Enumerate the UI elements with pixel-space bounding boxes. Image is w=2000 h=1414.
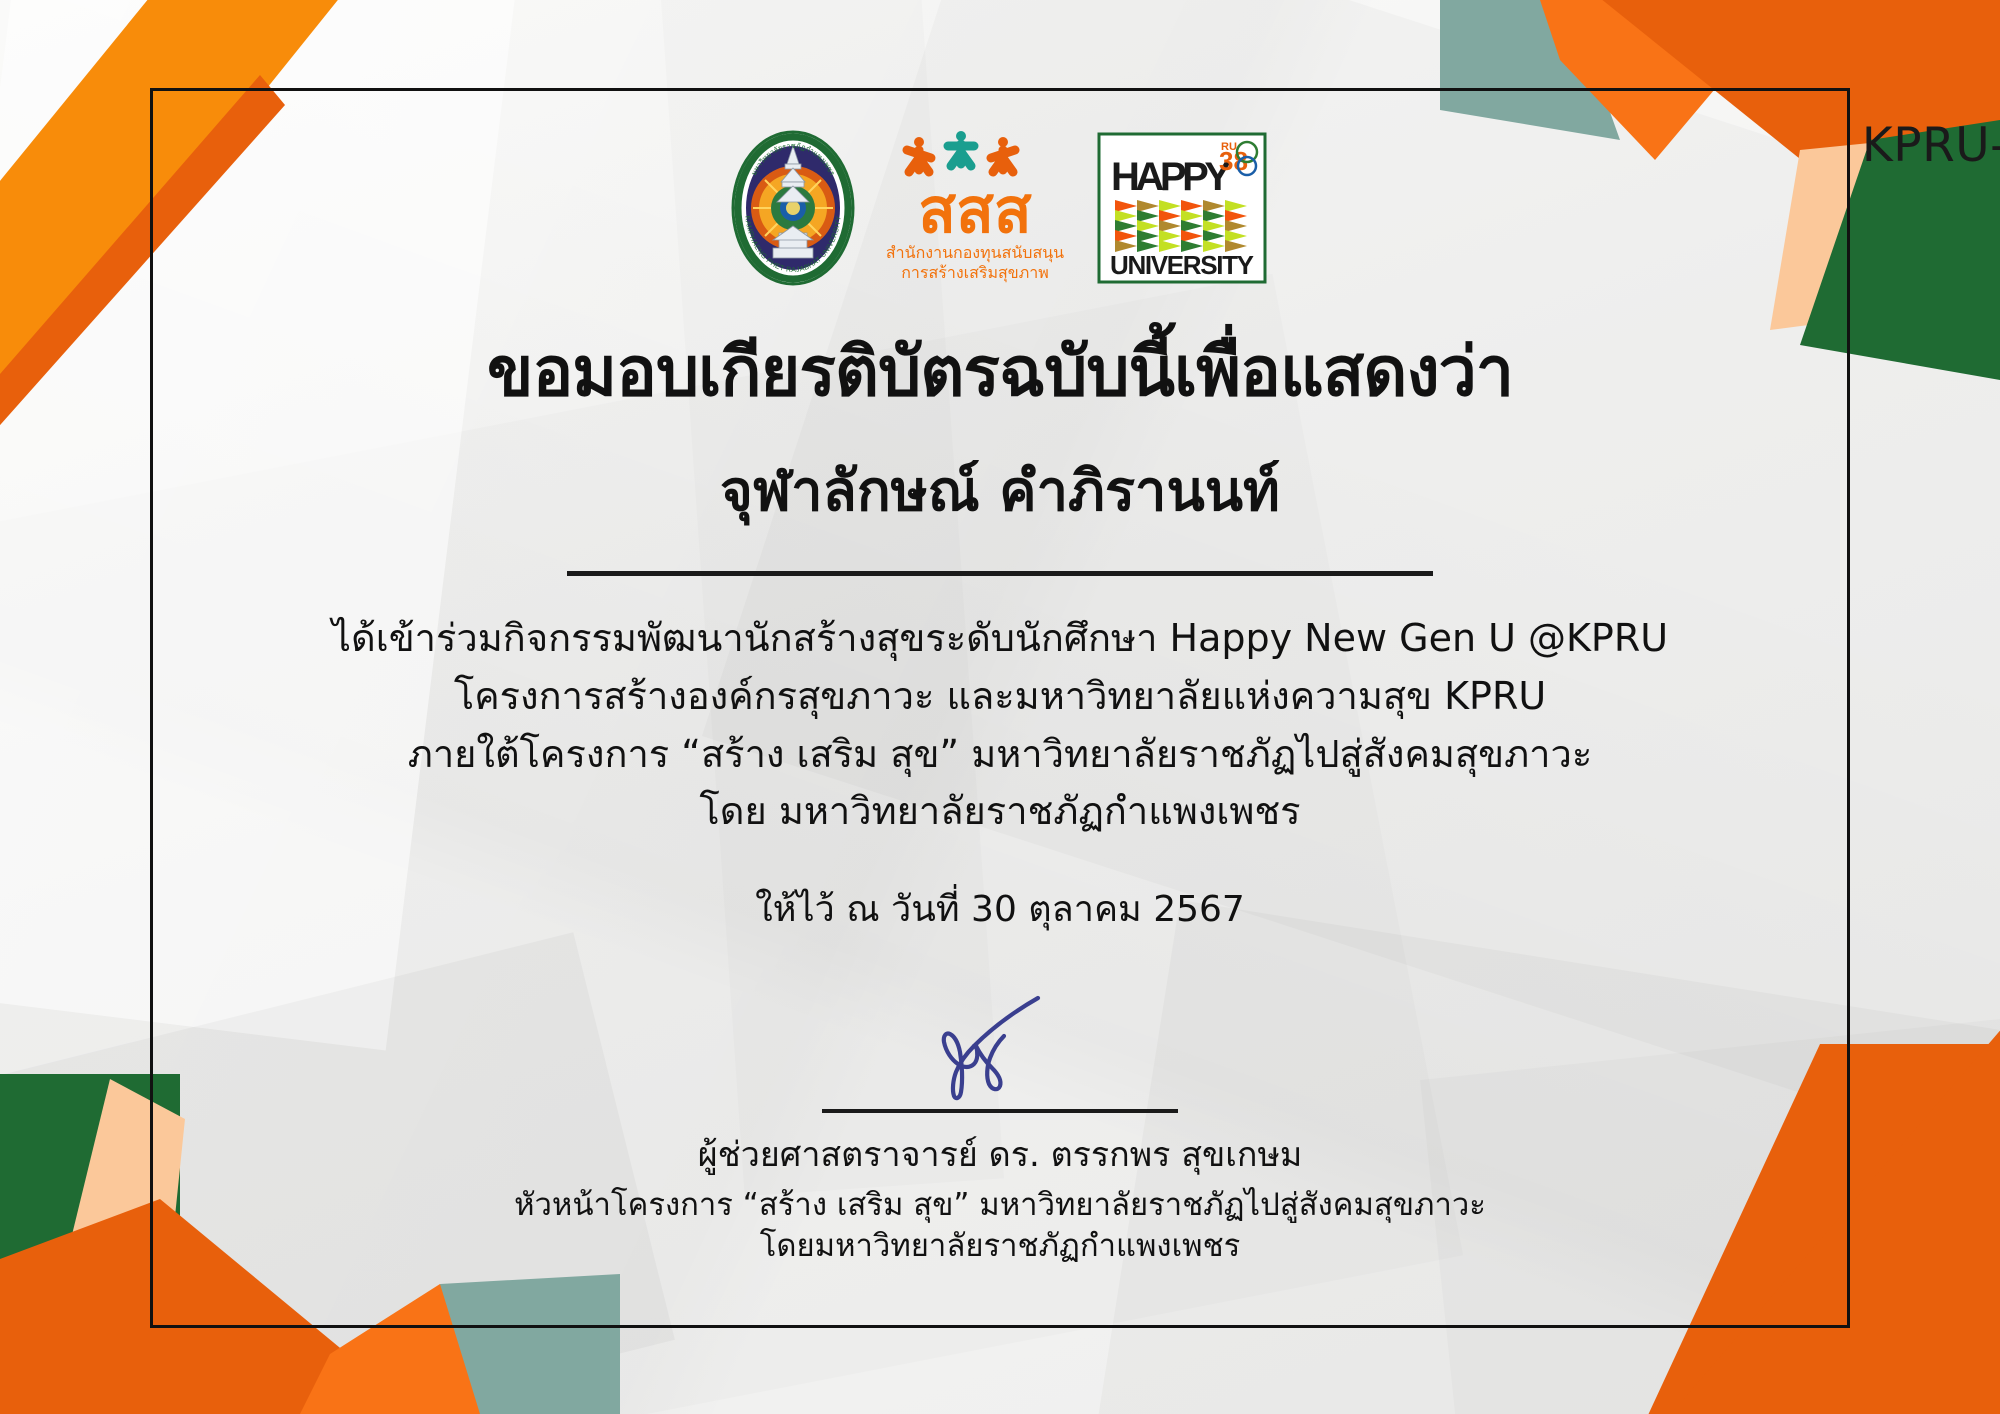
signer-role-line: หัวหน้าโครงการ “สร้าง เสริม สุข” มหาวิทย… <box>150 1185 1850 1227</box>
svg-text:HAPPY: HAPPY <box>1111 155 1231 199</box>
certificate-page: KPRU-0 <box>0 0 2000 1414</box>
certificate-headline: ขอมอบเกียรติบัตรฉบับนี้เพื่อแสดงว่า <box>150 330 1850 415</box>
body-line: ได้เข้าร่วมกิจกรรมพัฒนานักสร้างสุขระดับน… <box>150 610 1850 668</box>
body-line: โดย มหาวิทยาลัยราชภัฏกำแพงเพชร <box>150 783 1850 841</box>
happy-university-logo-icon: HAPPY <box>1093 128 1271 288</box>
certificate-body-text: ได้เข้าร่วมกิจกรรมพัฒนานักสร้างสุขระดับน… <box>150 610 1850 841</box>
svg-text:สสส: สสส <box>918 174 1032 247</box>
signature-divider-rule <box>822 1109 1178 1113</box>
signature-mark <box>150 990 1850 1105</box>
handwritten-signature-icon <box>850 990 1150 1105</box>
thaihealth-sss-logo-icon: สสส สำนักงานกองทุนสนับสนุน การสร้างเสริม… <box>875 128 1075 288</box>
name-divider-rule <box>567 571 1433 576</box>
body-line: โครงการสร้างองค์กรสุขภาวะ และมหาวิทยาลัย… <box>150 668 1850 726</box>
svg-text:สำนักงานกองทุนสนับสนุน: สำนักงานกองทุนสนับสนุน <box>886 243 1064 263</box>
award-date: ให้ไว้ ณ วันที่ 30 ตุลาคม 2567 <box>150 885 1850 935</box>
signer-role-line: โดยมหาวิทยาลัยราชภัฏกำแพงเพชร <box>150 1226 1850 1268</box>
signature-block: ผู้ช่วยศาสตราจารย์ ดร. ตรรกพร สุขเกษม หั… <box>150 990 1850 1268</box>
svg-text:UNIVERSITY: UNIVERSITY <box>1110 250 1254 280</box>
recipient-name: จุฬาลักษณ์ คำภิรานนท์ <box>150 457 1850 527</box>
logo-row: มหาวิทยาลัยราชภัฏกำแพงเพชร KAMPHAENG PHE… <box>0 128 2000 288</box>
body-line: ภายใต้โครงการ “สร้าง เสริม สุข” มหาวิทยา… <box>150 726 1850 784</box>
svg-text:การสร้างเสริมสุขภาพ: การสร้างเสริมสุขภาพ <box>901 263 1049 283</box>
signer-role: หัวหน้าโครงการ “สร้าง เสริม สุข” มหาวิทย… <box>150 1185 1850 1268</box>
certificate-body: ขอมอบเกียรติบัตรฉบับนี้เพื่อแสดงว่า จุฬา… <box>150 330 1850 935</box>
signer-name: ผู้ช่วยศาสตราจารย์ ดร. ตรรกพร สุขเกษม <box>150 1133 1850 1179</box>
kpru-university-seal-icon: มหาวิทยาลัยราชภัฏกำแพงเพชร KAMPHAENG PHE… <box>729 128 857 288</box>
